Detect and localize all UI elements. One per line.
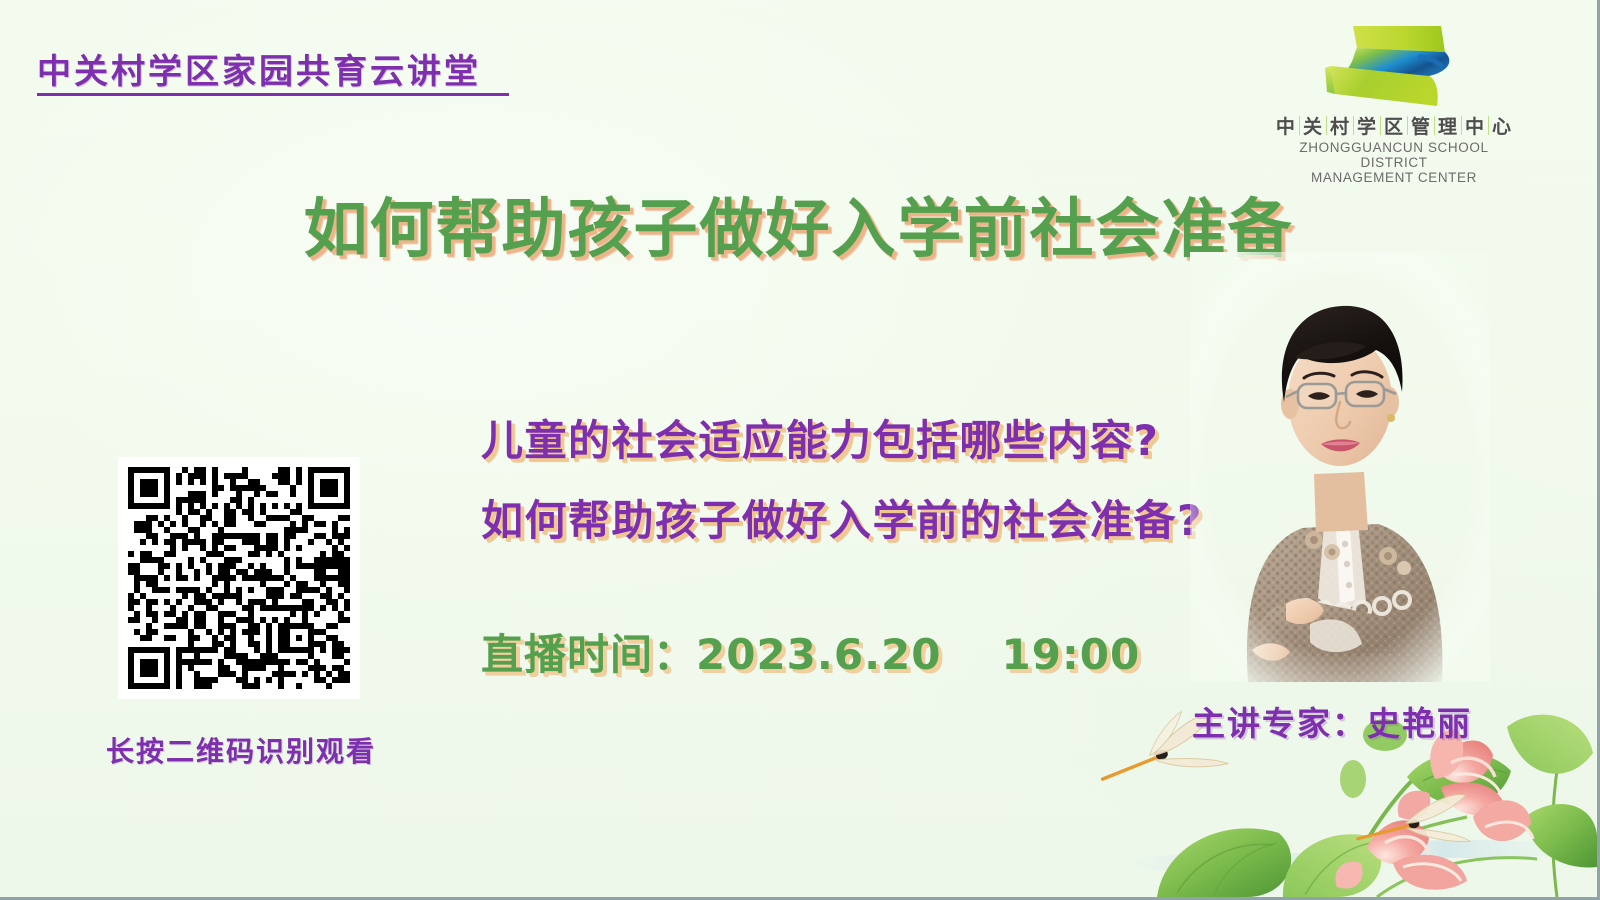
question-line-2: 如何帮助孩子做好入学前的社会准备? (481, 487, 1203, 548)
lotus-leaf (1507, 715, 1593, 774)
brand-underline (37, 93, 509, 96)
ribbon-z-icon (1269, 18, 1519, 110)
speaker-portrait (1190, 252, 1490, 682)
lotus-bud (1340, 760, 1366, 798)
organization-logo: 中 关 村 学 区 管 理 中 心 ZHONGGUANCUN SCHOOL DI… (1269, 18, 1519, 185)
live-time-label: 直播时间： (481, 630, 696, 679)
lotus-leaf (1283, 834, 1381, 897)
qr-code[interactable] (118, 457, 360, 699)
lotus-leaf (1525, 804, 1597, 867)
live-time-value: 19:00 (1002, 630, 1141, 679)
poster-canvas: 中关村学区家园共育云讲堂 (0, 0, 1600, 900)
brand-title: 中关村学区家园共育云讲堂 (37, 44, 481, 93)
speaker-caption: 主讲专家：史艳丽 (1192, 697, 1472, 745)
qr-code-image[interactable] (128, 467, 350, 689)
lotus-leaf (1407, 752, 1511, 805)
logo-english-line1: ZHONGGUANCUN SCHOOL DISTRICT (1269, 140, 1519, 170)
lotus-flower (1473, 800, 1533, 841)
dragonfly-icon (1353, 793, 1474, 860)
live-time-row: 直播时间：2023.6.2019:00 (481, 621, 1140, 682)
logo-chinese-name: 中 关 村 学 区 管 理 中 心 (1269, 112, 1519, 139)
lotus-leaf (1157, 828, 1291, 897)
qr-code-caption: 长按二维码识别观看 (0, 730, 482, 770)
question-line-1: 儿童的社会适应能力包括哪些内容? (481, 407, 1159, 468)
lotus-flower (1335, 820, 1467, 889)
live-date-value: 2023.6.20 (696, 630, 941, 679)
